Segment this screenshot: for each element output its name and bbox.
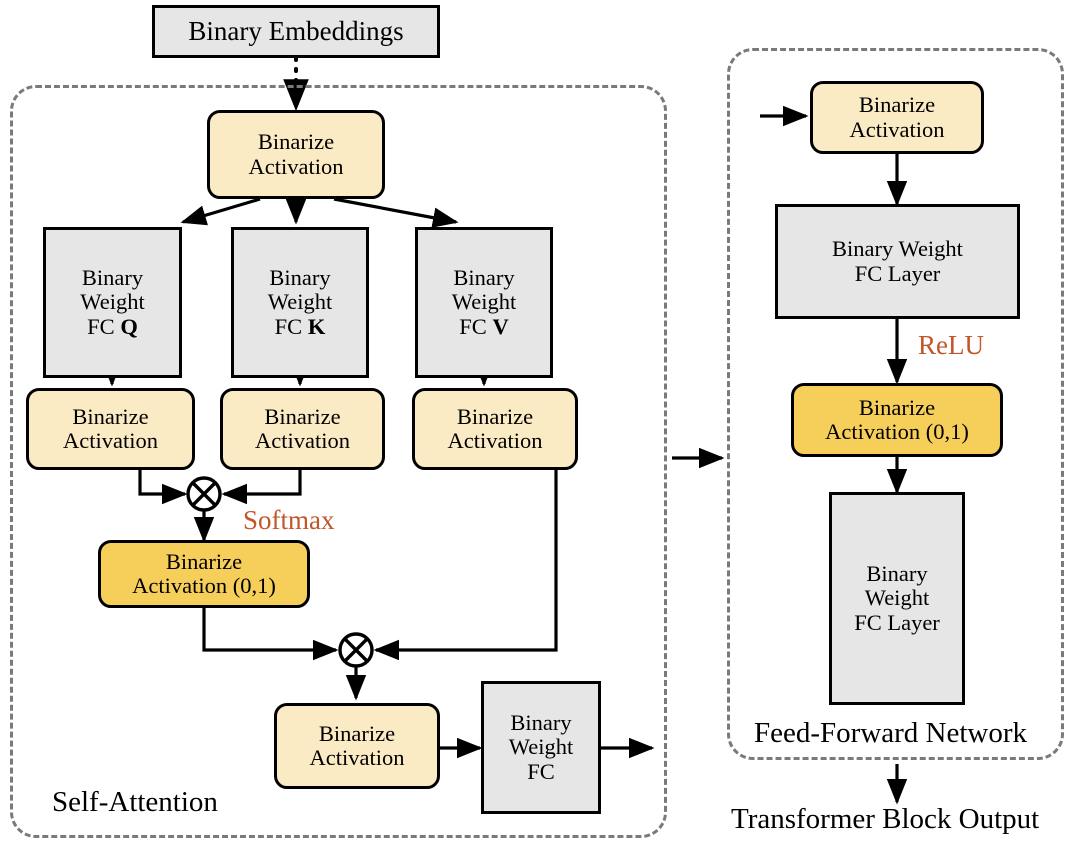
sa-matmul-2 [339, 633, 373, 667]
sa-binarize-v-label: Binarize Activation [448, 405, 543, 454]
sa-input-binarize-block: Binarize Activation [207, 110, 385, 199]
ffn-in-binarize-label: Binarize Activation [850, 93, 945, 142]
self-attention-panel-label: Self-Attention [52, 786, 218, 819]
sa-binarize-q-label: Binarize Activation [63, 405, 158, 454]
diagram-canvas: Binary Embeddings Binarize Activation Bi… [0, 0, 1080, 844]
sa-fc-q-block: Binary Weight FC Q [43, 227, 182, 378]
sa-fc-q-label: Binary Weight FC Q [80, 266, 144, 339]
sa-out-fc-block: Binary Weight FC [481, 681, 601, 814]
softmax-label: Softmax [243, 505, 335, 536]
ffn-fc-layer-1-block: Binary Weight FC Layer [775, 204, 1020, 319]
ffn-binarize-01-label: Binarize Activation (0,1) [825, 396, 969, 445]
binary-embeddings-label: Binary Embeddings [188, 17, 403, 46]
sa-binarize-01-label: Binarize Activation (0,1) [132, 550, 276, 599]
relu-label: ReLU [918, 330, 984, 361]
sa-input-binarize-label: Binarize Activation [249, 130, 344, 179]
sa-matmul-1 [187, 477, 221, 511]
sa-fc-k-label: Binary Weight FC K [268, 266, 332, 339]
sa-binarize-01-block: Binarize Activation (0,1) [98, 540, 310, 608]
sa-binarize-k-label: Binarize Activation [255, 405, 350, 454]
feed-forward-panel-label: Feed-Forward Network [750, 717, 1031, 750]
ffn-fc-layer-1-label: Binary Weight FC Layer [832, 237, 963, 286]
sa-fc-v-block: Binary Weight FC V [415, 227, 553, 378]
binary-embeddings-block: Binary Embeddings [152, 5, 440, 58]
matmul-2-icon [336, 630, 376, 670]
sa-out-binarize-label: Binarize Activation [310, 722, 405, 771]
ffn-in-binarize-block: Binarize Activation [810, 81, 984, 154]
sa-fc-q-symbol: Q [120, 314, 138, 339]
sa-fc-k-block: Binary Weight FC K [231, 227, 369, 378]
sa-fc-v-label: Binary Weight FC V [452, 266, 516, 339]
sa-binarize-q-block: Binarize Activation [26, 388, 195, 470]
ffn-fc-layer-2-block: Binary Weight FC Layer [829, 492, 965, 705]
matmul-1-icon [184, 474, 224, 514]
sa-binarize-v-block: Binarize Activation [412, 388, 578, 470]
sa-fc-v-symbol: V [492, 314, 508, 339]
transformer-block-output-label: Transformer Block Output [731, 803, 1039, 836]
ffn-fc-layer-2-label: Binary Weight FC Layer [854, 562, 940, 635]
sa-fc-k-symbol: K [308, 314, 326, 339]
sa-out-fc-label: Binary Weight FC [509, 711, 573, 784]
sa-binarize-k-block: Binarize Activation [220, 388, 385, 470]
sa-out-binarize-block: Binarize Activation [274, 703, 440, 789]
ffn-binarize-01-block: Binarize Activation (0,1) [791, 383, 1003, 457]
